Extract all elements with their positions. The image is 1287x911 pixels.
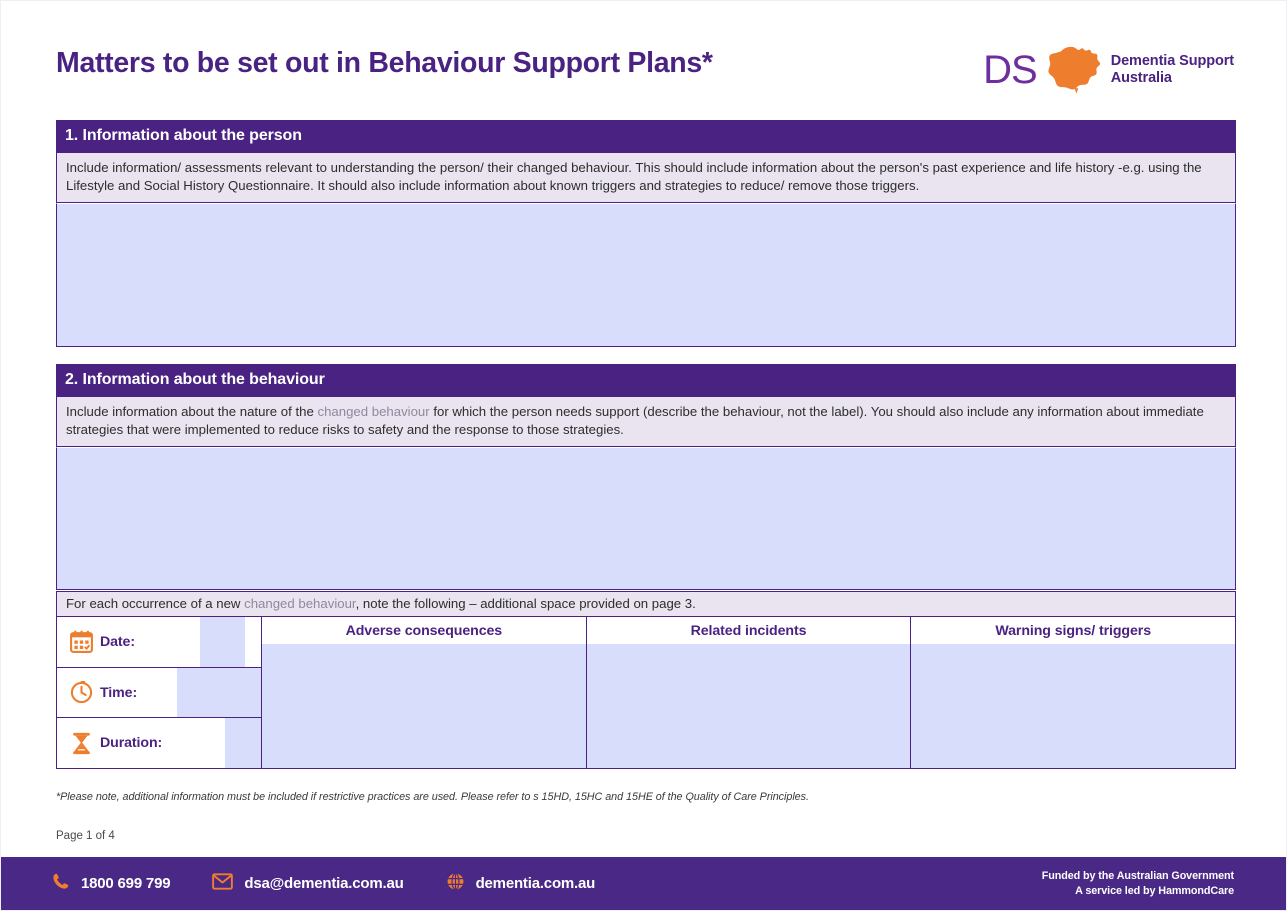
warning-signs-input[interactable]: [911, 644, 1235, 768]
footer-contacts: 1800 699 799 dsa@dementia.com.au: [51, 857, 595, 910]
warning-signs-header: Warning signs/ triggers: [911, 617, 1235, 644]
logo-wordmark: Dementia Support Australia: [1111, 53, 1234, 87]
footer-email-text: dsa@dementia.com.au: [244, 875, 403, 892]
occurrence-field-column: Date: Time:: [57, 617, 262, 768]
occurrence-field-duration: Duration:: [57, 718, 261, 768]
occurrence-instruction-part-1: For each occurrence of a new: [66, 596, 244, 611]
section-information-about-the-person: 1. Information about the person Include …: [56, 120, 1236, 347]
occurrence-table: Date: Time:: [56, 616, 1236, 769]
footer-website[interactable]: dementia.com.au: [446, 872, 596, 895]
time-label: Time:: [100, 685, 137, 701]
occurrence-column-related-incidents: Related incidents: [587, 617, 912, 768]
section-1-answer-area[interactable]: [56, 203, 1236, 347]
footer-phone-text: 1800 699 799: [81, 875, 170, 892]
funding-line-1: Funded by the Australian Government: [1042, 869, 1234, 884]
section-1-description-text: Include information/ assessments relevan…: [66, 160, 1202, 193]
footer-email[interactable]: dsa@dementia.com.au: [212, 872, 403, 895]
section-2-description-text-part-1: Include information about the nature of …: [66, 404, 317, 419]
adverse-consequences-header: Adverse consequences: [262, 617, 586, 644]
date-label: Date:: [100, 634, 135, 650]
occurrence-field-time: Time:: [57, 668, 261, 719]
restrictive-practices-note: *Please note, additional information mus…: [56, 791, 809, 803]
calendar-icon: [62, 629, 100, 654]
occurrence-instruction: For each occurrence of a new changed beh…: [56, 591, 1236, 617]
document-header: Matters to be set out in Behaviour Suppo…: [1, 1, 1286, 113]
occurrence-instruction-part-2: , note the following – additional space …: [356, 596, 696, 611]
related-incidents-header: Related incidents: [587, 617, 911, 644]
australia-map-icon: [1046, 45, 1102, 95]
document-page: Matters to be set out in Behaviour Suppo…: [0, 0, 1287, 911]
page-title: Matters to be set out in Behaviour Suppo…: [56, 47, 713, 80]
adverse-consequences-input[interactable]: [262, 644, 586, 768]
section-2-heading: 2. Information about the behaviour: [56, 364, 1236, 397]
document-footer: 1800 699 799 dsa@dementia.com.au: [1, 857, 1286, 910]
footer-funding: Funded by the Australian Government A se…: [1042, 857, 1234, 910]
duration-input[interactable]: [225, 718, 261, 768]
phone-icon: [51, 872, 70, 895]
section-information-about-the-behaviour: 2. Information about the behaviour Inclu…: [56, 364, 1236, 590]
section-2-description: Include information about the nature of …: [56, 397, 1236, 447]
occurrence-column-adverse-consequences: Adverse consequences: [262, 617, 587, 768]
time-input[interactable]: [177, 668, 261, 718]
email-icon: [212, 872, 233, 895]
occurrence-column-warning-signs: Warning signs/ triggers: [911, 617, 1235, 768]
logo-name-line-1: Dementia Support: [1111, 53, 1234, 69]
section-1-description: Include information/ assessments relevan…: [56, 153, 1236, 203]
occurrence-field-date: Date:: [57, 617, 261, 668]
logo-ds-mark: DS: [983, 50, 1037, 90]
section-2-description-muted-phrase: changed behaviour: [317, 404, 429, 419]
dsa-logo: DS Dementia Support Australia: [983, 45, 1234, 95]
date-input[interactable]: [200, 617, 245, 667]
occurrence-instruction-muted-phrase: changed behaviour: [244, 596, 355, 611]
section-2-answer-area[interactable]: [56, 447, 1236, 590]
clock-icon: [62, 680, 100, 705]
globe-icon: [446, 872, 465, 895]
footer-phone[interactable]: 1800 699 799: [51, 872, 170, 895]
hourglass-icon: [62, 731, 100, 756]
footer-website-text: dementia.com.au: [476, 875, 596, 892]
page-number: Page 1 of 4: [56, 830, 115, 842]
duration-label: Duration:: [100, 735, 162, 751]
section-1-heading: 1. Information about the person: [56, 120, 1236, 153]
logo-name-line-2: Australia: [1111, 70, 1172, 86]
funding-line-2: A service led by HammondCare: [1075, 884, 1234, 899]
related-incidents-input[interactable]: [587, 644, 911, 768]
